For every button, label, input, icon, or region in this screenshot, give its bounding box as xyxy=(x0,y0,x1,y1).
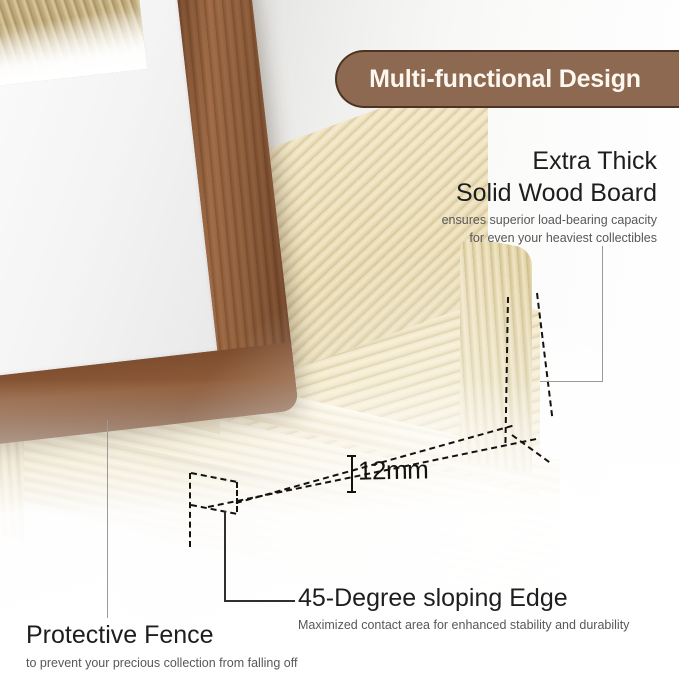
callout-fence-line1: Protective Fence xyxy=(26,620,214,652)
callout-title-protective-fence: Protective Fence xyxy=(26,620,214,652)
callout-slope-sub1: Maximized contact area for enhanced stab… xyxy=(298,616,629,634)
measure-cap-top xyxy=(347,455,356,457)
leader-thick-horizontal xyxy=(540,381,603,382)
leader-slope-horizontal xyxy=(224,600,295,602)
measure-label-12mm: 12mm xyxy=(358,454,429,486)
banner-label: Multi-functional Design xyxy=(369,65,641,94)
dash-left-cap-right xyxy=(236,482,238,512)
product-infographic: 12mm Multi-functional Design Extra Thick… xyxy=(0,0,679,679)
banner-multi-functional-design: Multi-functional Design xyxy=(335,50,679,108)
callout-fence-sub1: to prevent your precious collection from… xyxy=(26,654,297,672)
measure-cap-bottom xyxy=(347,491,356,493)
measure-bar xyxy=(351,456,353,493)
callout-title-sloping-edge: 45-Degree sloping Edge xyxy=(298,583,568,615)
callout-extra-thick-sub2: for even your heaviest collectibles xyxy=(442,229,657,247)
callout-slope-line1: 45-Degree sloping Edge xyxy=(298,583,568,615)
callout-extra-thick-line1: Extra Thick xyxy=(456,146,657,178)
leader-thick-vertical xyxy=(602,246,603,382)
callout-extra-thick-line2: Solid Wood Board xyxy=(456,178,657,210)
callout-sub-extra-thick: ensures superior load-bearing capacity f… xyxy=(442,211,657,247)
leader-slope-vertical xyxy=(224,511,226,601)
callout-extra-thick-sub1: ensures superior load-bearing capacity xyxy=(442,211,657,229)
callout-title-extra-thick: Extra Thick Solid Wood Board xyxy=(456,146,657,209)
callout-sub-sloping-edge: Maximized contact area for enhanced stab… xyxy=(298,616,629,634)
leader-fence-vertical xyxy=(107,420,108,618)
dash-left-cap-outer xyxy=(189,473,191,547)
callout-sub-protective-fence: to prevent your precious collection from… xyxy=(26,654,297,672)
